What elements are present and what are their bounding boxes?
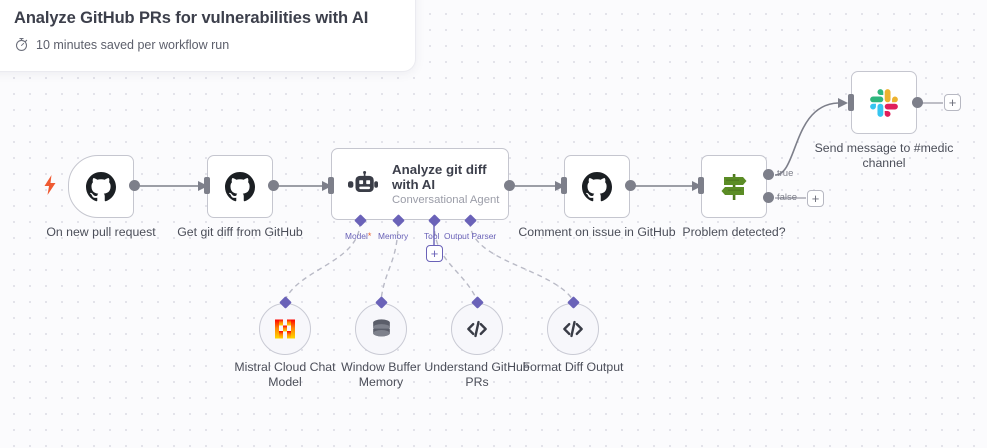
github-icon xyxy=(86,172,116,202)
node-window-buffer-memory[interactable] xyxy=(355,303,407,355)
node-analyze-git-diff-with-ai[interactable]: Analyze git diff with AI Conversational … xyxy=(331,148,509,220)
mistral-icon xyxy=(272,316,298,342)
if-output-dot-false[interactable] xyxy=(763,192,774,203)
agent-connector-label-memory: Memory xyxy=(378,231,408,241)
slack-output-dot[interactable] xyxy=(912,97,923,108)
agent-connector-label-output-parser: Output Parser xyxy=(444,231,496,241)
agent-connector-label-tool: Tool xyxy=(424,231,439,241)
add-node-after-slack-button[interactable]: + xyxy=(944,94,961,111)
comment-input-port[interactable] xyxy=(561,177,567,194)
getdiff-input-port[interactable] xyxy=(204,177,210,194)
node-label-problem-detected: Problem detected? xyxy=(654,225,814,240)
agent-output-dot[interactable] xyxy=(504,180,515,191)
github-icon xyxy=(225,172,255,202)
github-icon xyxy=(582,172,612,202)
comment-output-dot[interactable] xyxy=(625,180,636,191)
node-label-comment-on-issue: Comment on issue in GitHub xyxy=(517,225,677,240)
node-comment-on-issue-in-github[interactable] xyxy=(564,155,630,218)
robot-icon xyxy=(348,171,378,198)
slack-input-port[interactable] xyxy=(848,94,854,111)
agent-subtitle: Conversational Agent xyxy=(392,194,502,207)
if-output-dot-true[interactable] xyxy=(763,169,774,180)
workflow-canvas[interactable]: Analyze GitHub PRs for vulnerabilities w… xyxy=(0,0,987,448)
slack-icon xyxy=(870,89,898,117)
connector-model-text: Model xyxy=(345,231,368,241)
add-node-false-branch-button[interactable]: + xyxy=(807,190,824,207)
subnode-label-format: Format Diff Output xyxy=(513,360,633,375)
page-title: Analyze GitHub PRs for vulnerabilities w… xyxy=(14,8,415,28)
node-label-on-new-pull-request: On new pull request xyxy=(21,225,181,240)
branch-label-true: true xyxy=(777,168,793,179)
node-label-get-git-diff: Get git diff from GitHub xyxy=(160,225,320,240)
node-on-new-pull-request[interactable] xyxy=(68,155,134,218)
stopwatch-icon xyxy=(14,37,29,52)
node-understand-github-prs[interactable] xyxy=(451,303,503,355)
workflow-header-card: Analyze GitHub PRs for vulnerabilities w… xyxy=(0,0,416,72)
node-send-message-to-slack[interactable] xyxy=(851,71,917,134)
add-tool-button[interactable]: + xyxy=(426,245,443,262)
time-saved-label: 10 minutes saved per workflow run xyxy=(36,38,229,52)
node-problem-detected[interactable] xyxy=(701,155,767,218)
agent-title: Analyze git diff with AI xyxy=(392,162,502,193)
node-format-diff-output[interactable] xyxy=(547,303,599,355)
getdiff-output-dot[interactable] xyxy=(268,180,279,191)
signpost-icon xyxy=(718,172,750,202)
agent-connector-label-model: Model* xyxy=(345,231,371,241)
node-get-git-diff-from-github[interactable] xyxy=(207,155,273,218)
code-icon xyxy=(464,316,490,342)
code-icon xyxy=(560,316,586,342)
time-saved-row: 10 minutes saved per workflow run xyxy=(14,37,415,52)
node-mistral-cloud-chat-model[interactable] xyxy=(259,303,311,355)
if-input-port[interactable] xyxy=(698,177,704,194)
database-icon xyxy=(369,317,394,342)
trigger-bolt-icon xyxy=(44,175,57,200)
node-label-send-message-slack: Send message to #medic channel xyxy=(804,141,964,170)
agent-text-block: Analyze git diff with AI Conversational … xyxy=(392,162,502,207)
trigger-output-dot[interactable] xyxy=(129,180,140,191)
branch-label-false: false xyxy=(777,192,797,203)
required-star-icon: * xyxy=(368,231,372,241)
agent-input-port[interactable] xyxy=(328,177,334,194)
